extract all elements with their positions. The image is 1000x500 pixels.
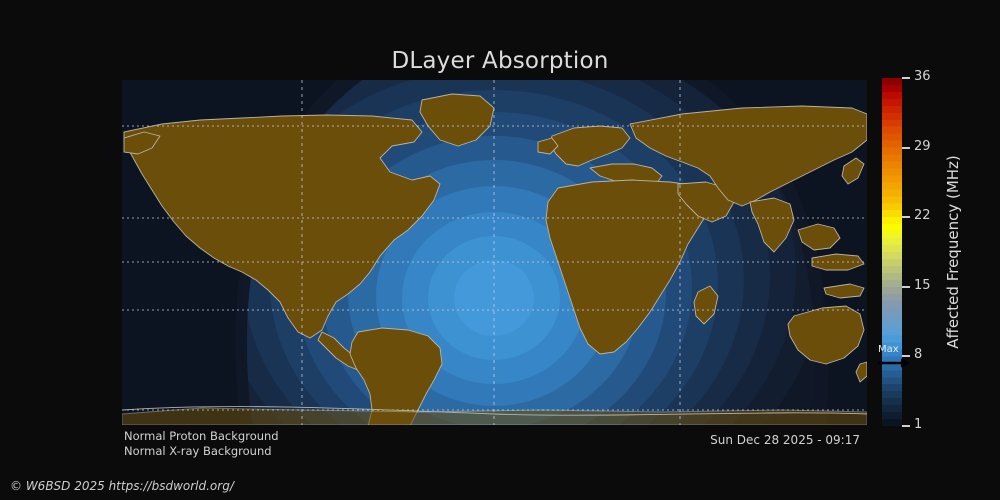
colorbar-tick-mark	[902, 286, 910, 288]
max-marker: Max	[877, 345, 911, 371]
colorbar-tick-label: 8	[914, 347, 922, 363]
colorbar[interactable]	[882, 78, 902, 426]
background-notes: Normal Proton Background Normal X-ray Ba…	[124, 429, 279, 459]
dlayer-absorption-screen: DLayer Absorption	[0, 0, 1000, 500]
max-marker-label: Max	[878, 345, 899, 355]
colorbar-tick-mark	[902, 425, 910, 427]
colorbar-axis-label: Affected Frequency (MHz)	[944, 78, 966, 426]
colorbar-tick-label: 29	[914, 139, 931, 155]
colorbar-gradient	[882, 78, 902, 426]
world-map-panel[interactable]	[122, 80, 867, 425]
colorbar-tick-mark	[902, 216, 910, 218]
proton-background-note: Normal Proton Background	[124, 429, 279, 444]
xray-background-note: Normal X-ray Background	[124, 444, 279, 459]
colorbar-tick-label: 15	[914, 278, 931, 294]
colorbar-tick-label: 22	[914, 208, 931, 224]
page-title: DLayer Absorption	[0, 48, 1000, 74]
absorption-map	[122, 80, 867, 425]
colorbar-tick-mark	[902, 77, 910, 79]
colorbar-tick-label: 1	[914, 417, 922, 433]
colorbar-tick-label: 36	[914, 69, 931, 85]
max-arrow-icon	[877, 358, 911, 368]
copyright-link[interactable]: © W6BSD 2025 https://bsdworld.org/	[10, 479, 234, 493]
colorbar-tick-mark	[902, 147, 910, 149]
timestamp: Sun Dec 28 2025 - 09:17	[710, 433, 860, 447]
colorbar-ticks: 3629221581	[902, 78, 942, 426]
